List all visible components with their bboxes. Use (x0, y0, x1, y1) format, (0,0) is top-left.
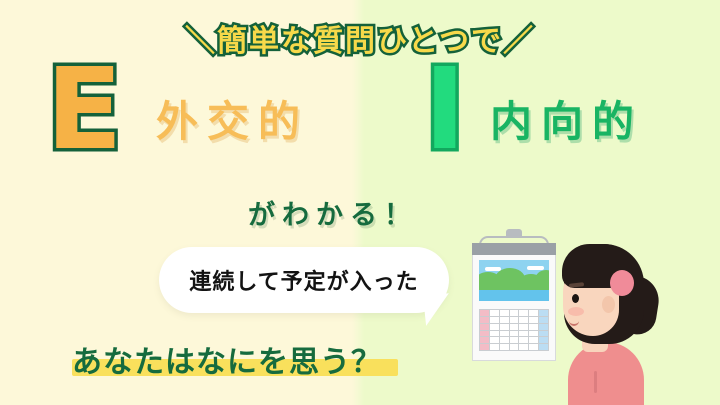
poster-canvas: ＼簡単な質問ひとつで／ E 外交的 I 内向的 がわかる！ 連続して予定が入った… (0, 0, 720, 405)
subline-text: がわかる！ (248, 193, 418, 232)
calendar-top-bar (472, 243, 556, 255)
woman-collar-line (594, 371, 597, 393)
woman-eye (572, 294, 579, 303)
bottom-question-text: あなたはなにを思う？ (72, 337, 382, 381)
woman-ear (602, 296, 615, 313)
type-letter-introvert: I (424, 54, 466, 166)
type-word-introvert: 内向的 (490, 101, 643, 143)
type-letter-extrovert: E (46, 54, 123, 166)
woman-illustration (548, 238, 678, 405)
calendar-photo-scene (479, 260, 549, 301)
type-word-extrovert: 外交的 (156, 101, 309, 143)
lake-icon (479, 290, 549, 301)
woman-torso (568, 342, 644, 405)
woman-scrunchie-icon (610, 270, 634, 296)
calendar-date-grid (479, 309, 549, 351)
speech-bubble-text: 連続して予定が入った (159, 247, 449, 313)
hills-icon (479, 268, 549, 290)
woman-cheek-blush (568, 307, 584, 316)
